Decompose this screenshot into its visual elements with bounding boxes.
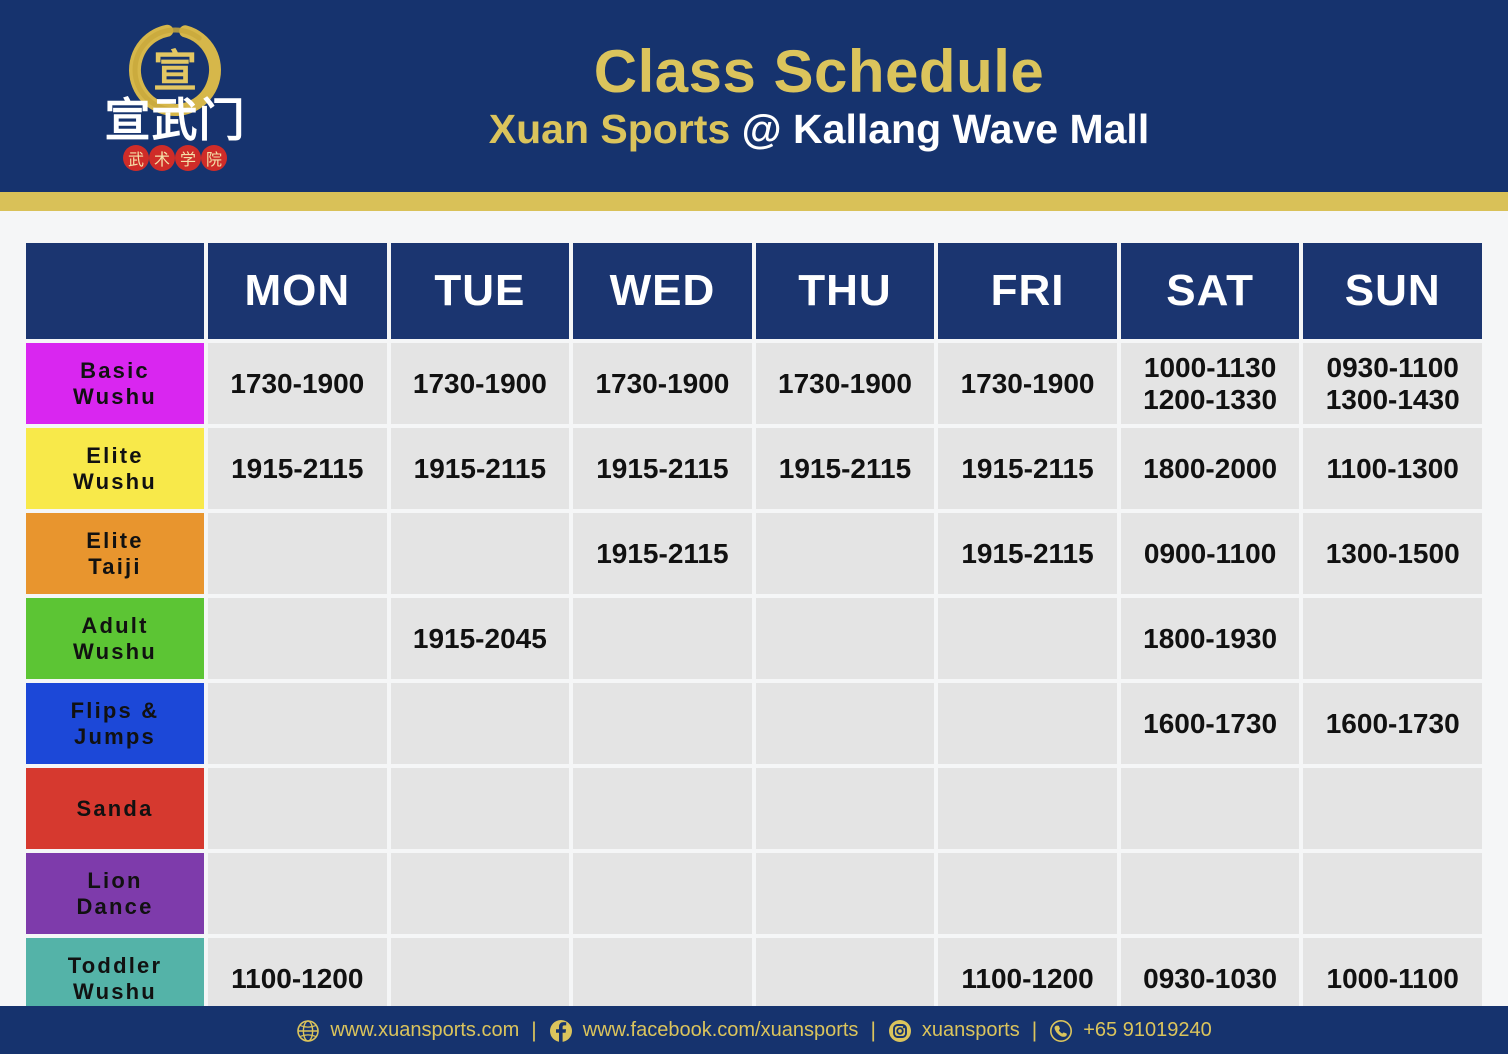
slot-cell [938,768,1117,849]
class-label-line1: Flips & [26,698,204,724]
table-body: BasicWushu1730-19001730-19001730-1900173… [26,343,1482,1019]
slot-time-primary: 1915-2115 [414,453,546,484]
footer-item-facebook[interactable]: www.facebook.com/xuansports [549,1019,859,1043]
slot-time-primary: 1100-1200 [961,963,1093,994]
slot-cell[interactable]: 1730-1900 [756,343,935,424]
slot-cell[interactable]: 1730-1900 [573,343,752,424]
slot-cell [208,768,387,849]
day-header-sat: SAT [1121,243,1300,339]
slot-time-primary: 1730-1900 [778,368,912,399]
svg-text:术: 术 [154,150,170,169]
slot-cell[interactable]: 1915-2115 [391,428,570,509]
slot-cell [756,853,935,934]
slot-cell[interactable]: 1800-2000 [1121,428,1300,509]
globe-icon [296,1019,320,1043]
slot-time-primary: 1915-2115 [596,538,728,569]
slot-cell[interactable]: 1730-1900 [938,343,1117,424]
table-row: LionDance [26,853,1482,934]
footer-item-instagram[interactable]: xuansports [888,1019,1020,1043]
slot-cell [573,683,752,764]
slot-cell [756,683,935,764]
slot-cell[interactable]: 1000-11301200-1330 [1121,343,1300,424]
footer-item-label: www.xuansports.com [330,1019,519,1042]
phone-icon [1049,1019,1073,1043]
day-header-mon: MON [208,243,387,339]
slot-time-primary: 1730-1900 [230,368,364,399]
slot-cell [391,513,570,594]
slot-cell [1303,853,1482,934]
class-label-adult-wushu: AdultWushu [26,598,204,679]
slot-cell[interactable]: 1100-1300 [1303,428,1482,509]
page-subtitle: Xuan Sports @ Kallang Wave Mall [150,107,1488,152]
class-label-line2: Dance [26,894,204,920]
slot-time-primary: 0930-1100 [1327,352,1459,383]
slot-cell[interactable]: 1600-1730 [1121,683,1300,764]
slot-cell[interactable]: 1600-1730 [1303,683,1482,764]
class-label-line1: Lion [26,868,204,894]
class-label-line2: Jumps [26,724,204,750]
class-label-line2: Wushu [26,979,204,1005]
slot-cell [208,513,387,594]
slot-cell [938,853,1117,934]
xuan-sports-logo: 宣 宣武门 武 术 学 院 [85,18,265,183]
slot-cell [573,598,752,679]
slot-time-primary: 1730-1900 [413,368,547,399]
class-label-line1: Adult [26,613,204,639]
slot-time-primary: 0900-1100 [1144,538,1276,569]
slot-time-primary: 1000-1130 [1144,352,1276,383]
day-header-wed: WED [573,243,752,339]
class-schedule-table: MONTUEWEDTHUFRISATSUN BasicWushu1730-190… [22,239,1486,1023]
table-corner-cell [26,243,204,339]
slot-time-primary: 1100-1300 [1327,453,1459,484]
slot-cell[interactable]: 1300-1500 [1303,513,1482,594]
slot-cell [391,853,570,934]
class-label-elite-taiji: EliteTaiji [26,513,204,594]
day-header-sun: SUN [1303,243,1482,339]
slot-cell [391,683,570,764]
slot-cell[interactable]: 1800-1930 [1121,598,1300,679]
slot-time-primary: 1730-1900 [595,368,729,399]
slot-cell [1121,768,1300,849]
facebook-icon [549,1019,573,1043]
footer-separator: | [530,1019,537,1043]
table-row: Flips &Jumps1600-17301600-1730 [26,683,1482,764]
table-row: Sanda [26,768,1482,849]
gold-divider-bar [0,192,1508,211]
slot-time-primary: 1915-2115 [961,538,1093,569]
class-label-line1: Basic [26,358,204,384]
class-label-line2: Taiji [26,554,204,580]
slot-cell [1303,598,1482,679]
slot-cell[interactable]: 1915-2045 [391,598,570,679]
class-label-line1: Elite [26,443,204,469]
class-label-basic-wushu: BasicWushu [26,343,204,424]
slot-cell [391,768,570,849]
slot-cell [756,598,935,679]
slot-cell[interactable]: 1915-2115 [573,513,752,594]
slot-cell [573,768,752,849]
class-label-lion-dance: LionDance [26,853,204,934]
slot-cell [938,598,1117,679]
slot-cell [573,853,752,934]
slot-time-secondary: 1300-1430 [1303,384,1482,415]
class-label-line1: Toddler [26,953,204,979]
slot-time-primary: 1600-1730 [1326,708,1460,739]
slot-cell[interactable]: 0930-11001300-1430 [1303,343,1482,424]
subtitle-brand: Xuan Sports [489,106,730,152]
slot-cell[interactable]: 1730-1900 [391,343,570,424]
slot-time-primary: 1915-2045 [413,623,547,654]
slot-cell[interactable]: 1730-1900 [208,343,387,424]
page-title: Class Schedule [150,40,1488,103]
slot-time-primary: 0930-1030 [1143,963,1277,994]
footer-item-label: +65 91019240 [1083,1019,1211,1042]
slot-time-primary: 1300-1500 [1326,538,1460,569]
slot-cell [756,768,935,849]
footer-separator: | [1031,1019,1038,1043]
contact-footer: www.xuansports.com|www.facebook.com/xuan… [0,1006,1508,1054]
slot-cell[interactable]: 0900-1100 [1121,513,1300,594]
instagram-icon [888,1019,912,1043]
svg-text:武: 武 [128,150,144,169]
slot-cell [1121,853,1300,934]
logo-circle-char: 宣 [153,46,197,97]
slot-time-primary: 1915-2115 [231,453,363,484]
footer-item-label: xuansports [922,1019,1020,1042]
svg-text:院: 院 [206,150,222,169]
slot-time-primary: 1730-1900 [961,368,1095,399]
subtitle-venue: @ Kallang Wave Mall [742,106,1150,152]
footer-item-globe[interactable]: www.xuansports.com [296,1019,519,1043]
logo-red-badges: 武 术 学 院 [123,145,227,171]
slot-time-primary: 1915-2115 [961,453,1093,484]
slot-cell[interactable]: 1915-2115 [208,428,387,509]
class-label-line1: Sanda [26,796,204,822]
slot-time-primary: 1100-1200 [231,963,363,994]
slot-cell [1303,768,1482,849]
logo-chinese-name: 宣武门 [105,93,246,147]
footer-item-label: www.facebook.com/xuansports [583,1019,859,1042]
class-label-line2: Wushu [26,384,204,410]
slot-cell [208,598,387,679]
slot-time-primary: 1800-2000 [1143,453,1277,484]
day-header-fri: FRI [938,243,1117,339]
slot-cell [756,513,935,594]
class-label-line1: Elite [26,528,204,554]
table-row: EliteTaiji1915-21151915-21150900-1100130… [26,513,1482,594]
table-row: AdultWushu1915-20451800-1930 [26,598,1482,679]
slot-cell[interactable]: 1915-2115 [573,428,752,509]
slot-cell[interactable]: 1915-2115 [938,428,1117,509]
day-header-tue: TUE [391,243,570,339]
table-row: EliteWushu1915-21151915-21151915-2115191… [26,428,1482,509]
slot-time-primary: 1915-2115 [596,453,728,484]
class-label-flips-jumps: Flips &Jumps [26,683,204,764]
slot-time-primary: 1915-2115 [779,453,911,484]
class-label-elite-wushu: EliteWushu [26,428,204,509]
page-header: 宣 宣武门 武 术 学 院 Class Schedule Xuan Sports… [0,0,1508,192]
footer-item-phone[interactable]: +65 91019240 [1049,1019,1211,1043]
slot-time-secondary: 1200-1330 [1121,384,1300,415]
footer-separator: | [869,1019,876,1043]
logo-artwork: 宣 宣武门 武 术 学 院 [85,18,265,183]
table-header-row: MONTUEWEDTHUFRISATSUN [26,243,1482,339]
slot-time-primary: 1800-1930 [1143,623,1277,654]
schedule-sheet: MONTUEWEDTHUFRISATSUN BasicWushu1730-190… [0,211,1508,1006]
slot-cell[interactable]: 1915-2115 [938,513,1117,594]
slot-time-primary: 1600-1730 [1143,708,1277,739]
table-row: BasicWushu1730-19001730-19001730-1900173… [26,343,1482,424]
slot-cell[interactable]: 1915-2115 [756,428,935,509]
slot-cell [208,683,387,764]
slot-time-primary: 1000-1100 [1327,963,1459,994]
class-label-line2: Wushu [26,469,204,495]
slot-cell [208,853,387,934]
svg-text:学: 学 [180,150,196,169]
class-label-sanda: Sanda [26,768,204,849]
day-header-thu: THU [756,243,935,339]
slot-cell [938,683,1117,764]
class-label-line2: Wushu [26,639,204,665]
